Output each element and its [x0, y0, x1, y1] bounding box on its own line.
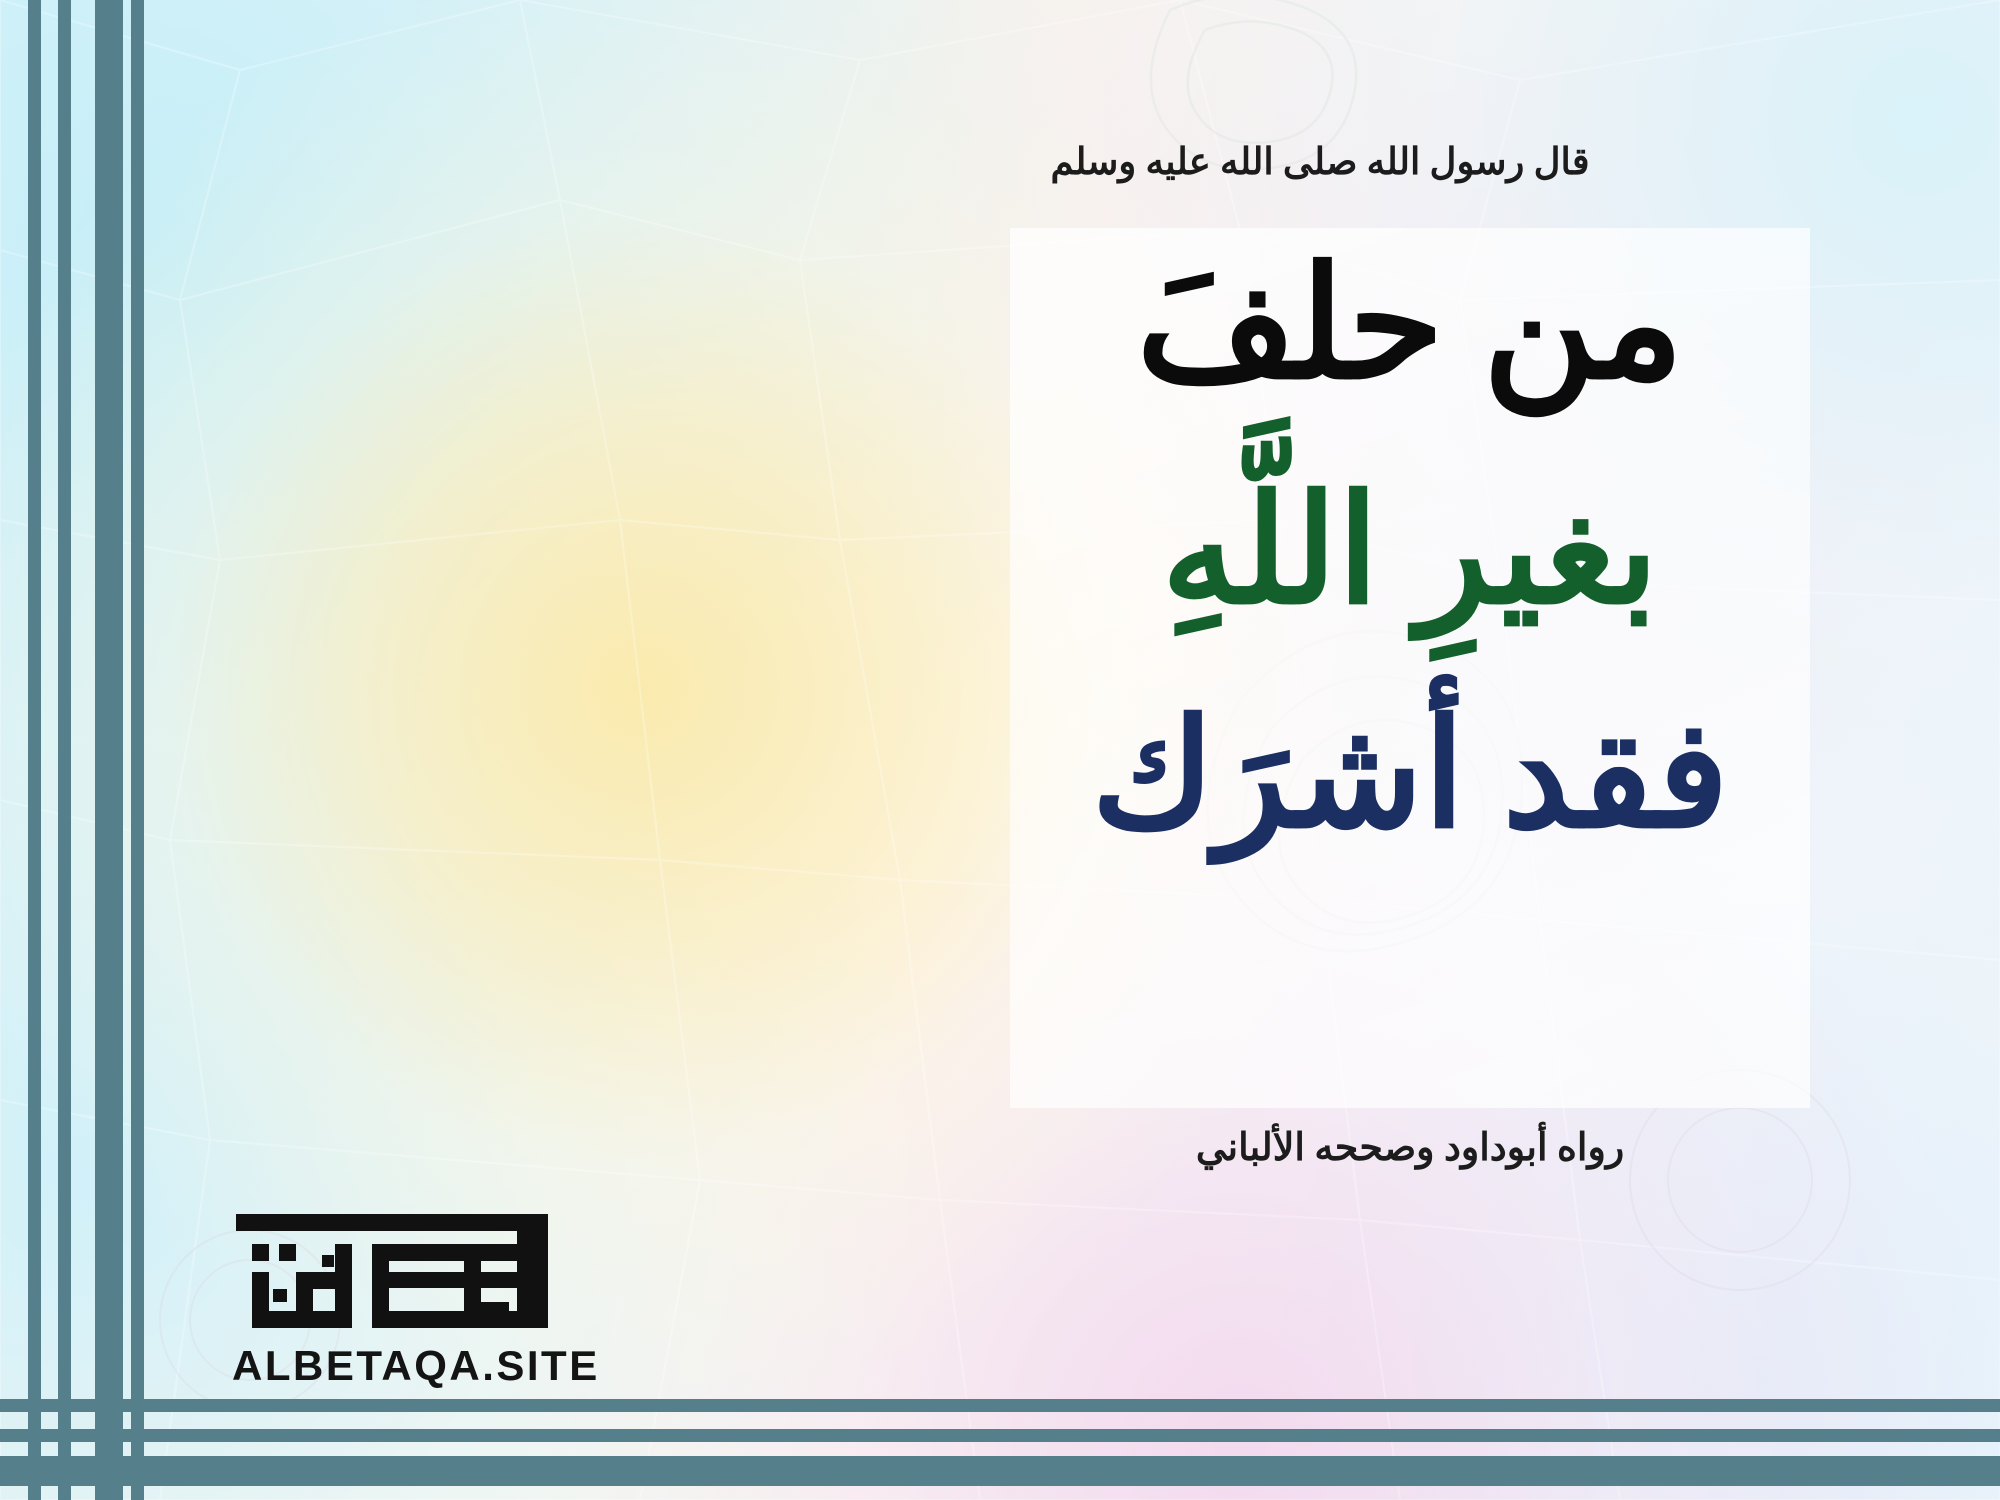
albetaqa-kufic-logo-icon	[232, 1210, 552, 1332]
frame-stripe-bottom-2	[0, 1429, 2000, 1442]
albetaqa-wordmark: ALBETAQA.SITE	[232, 1342, 552, 1390]
frame-stripe-left-3-thick	[95, 0, 123, 1500]
frame-stripe-left-1	[28, 0, 41, 1500]
frame-stripe-bottom-3-thick	[0, 1456, 2000, 1486]
frame-stripe-bottom-1	[0, 1399, 2000, 1412]
hadith-narrator-intro: قال رسول الله صلى الله عليه وسلم	[870, 140, 1770, 184]
hadith-line-1: من حلفَ	[1010, 248, 1810, 403]
hadith-source-reference: رواه أبوداود وصححه الألباني	[1010, 1125, 1810, 1170]
hadith-card: قال رسول الله صلى الله عليه وسلم من حلفَ…	[0, 0, 2000, 1500]
hadith-text: من حلفَ بغيرِ اللَّهِ فقد أشرَك	[1010, 248, 1810, 851]
hadith-line-2: بغيرِ اللَّهِ	[1010, 477, 1810, 627]
albetaqa-logo[interactable]: ALBETAQA.SITE	[232, 1210, 562, 1390]
frame-stripe-left-2	[58, 0, 71, 1500]
hadith-line-3: فقد أشرَك	[1010, 701, 1810, 851]
frame-stripe-left-4	[131, 0, 144, 1500]
